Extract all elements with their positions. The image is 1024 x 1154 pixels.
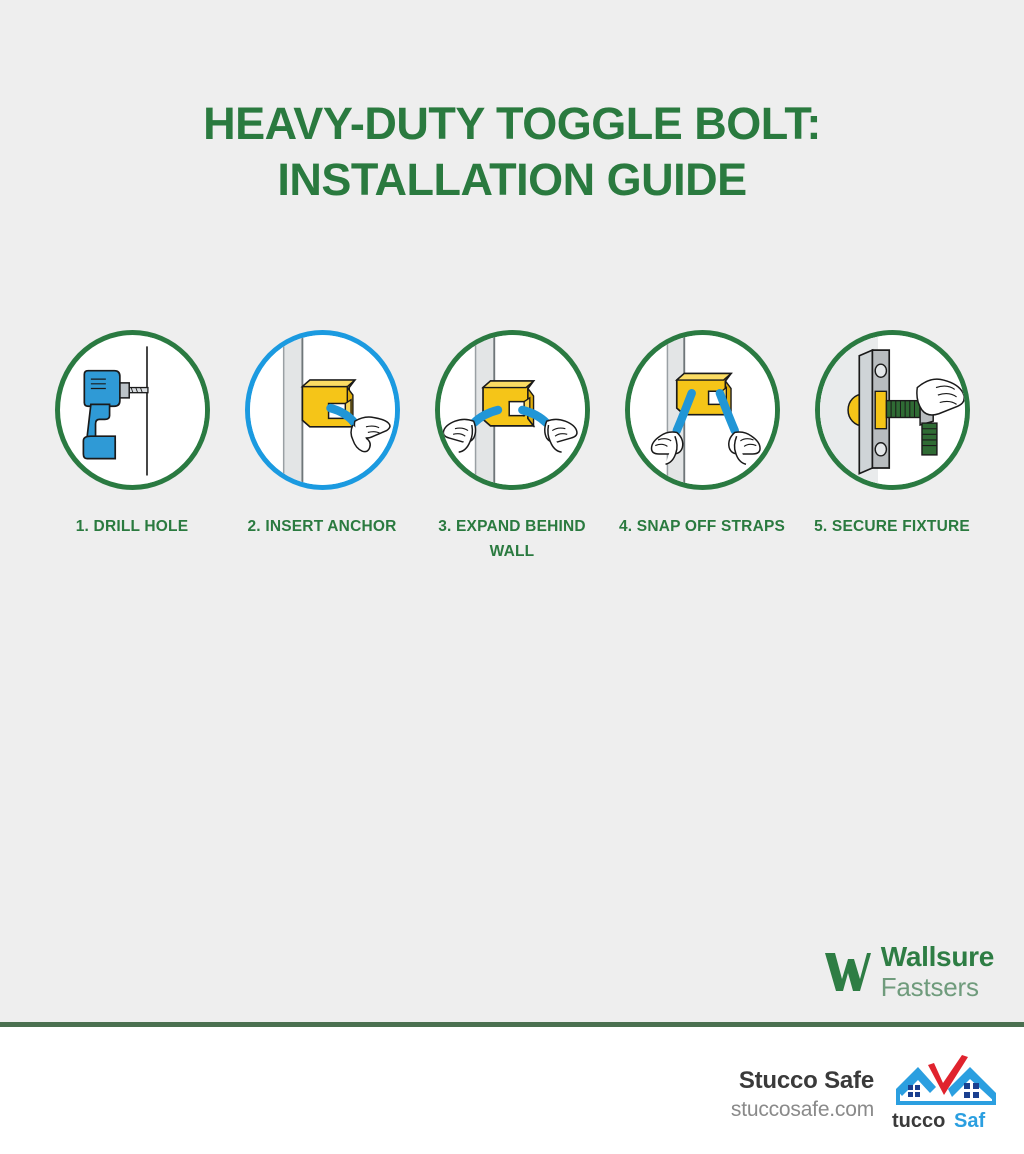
footer-content: Stucco Safe stuccosafe.com [731,1055,1000,1133]
step-5-illustration [815,330,970,490]
stucco-safe-logo-icon: tucco Saf [892,1055,1000,1133]
step-2[interactable]: 2. INSERT ANCHOR [227,330,417,539]
step-1-label: 1. DRILL HOLE [40,514,225,539]
drill-bit-icon [127,388,148,393]
wallsure-brand-name: Wallsure [881,943,994,971]
step-5[interactable]: 5. SECURE FIXTURE [797,330,987,539]
wallsure-brand-text: Wallsure Fastsers [881,943,994,1000]
step-1-illustration [55,330,210,490]
footer-company-name: Stucco Safe [731,1066,874,1096]
step-2-illustration [245,330,400,490]
poster-canvas: HEAVY-DUTY TOGGLE BOLT: INSTALLATION GUI… [0,0,1024,1022]
step-4[interactable]: 4. SNAP OFF STRAPS [607,330,797,539]
step-4-label: 4. SNAP OFF STRAPS [610,514,795,539]
page-title-line-2: INSTALLATION GUIDE [0,152,1024,208]
steps-row: 1. DRILL HOLE [0,330,1024,564]
step-3-label: 3. EXPAND BEHIND WALL [420,514,605,564]
w-logomark-icon [823,949,871,995]
page-title-line-1: HEAVY-DUTY TOGGLE BOLT: [203,98,821,149]
step-3[interactable]: 3. EXPAND BEHIND WALL [417,330,607,564]
footer-website-url[interactable]: stuccosafe.com [731,1096,874,1123]
step-1[interactable]: 1. DRILL HOLE [37,330,227,539]
step-5-label: 5. SECURE FIXTURE [800,514,985,539]
page-title: HEAVY-DUTY TOGGLE BOLT: INSTALLATION GUI… [0,96,1024,208]
step-4-illustration [625,330,780,490]
fixture-plate-icon [859,350,889,473]
step-3-illustration [435,330,590,490]
svg-text:tucco: tucco [892,1110,945,1132]
footer-bar: Stucco Safe stuccosafe.com [0,1027,1024,1154]
svg-text:Saf: Saf [954,1110,985,1132]
footer-text-block: Stucco Safe stuccosafe.com [731,1066,874,1123]
wallsure-brand: Wallsure Fastsers [823,943,994,1000]
step-2-label: 2. INSERT ANCHOR [230,514,415,539]
toggle-anchor-icon [483,381,534,426]
wallsure-brand-subtitle: Fastsers [881,974,994,1000]
